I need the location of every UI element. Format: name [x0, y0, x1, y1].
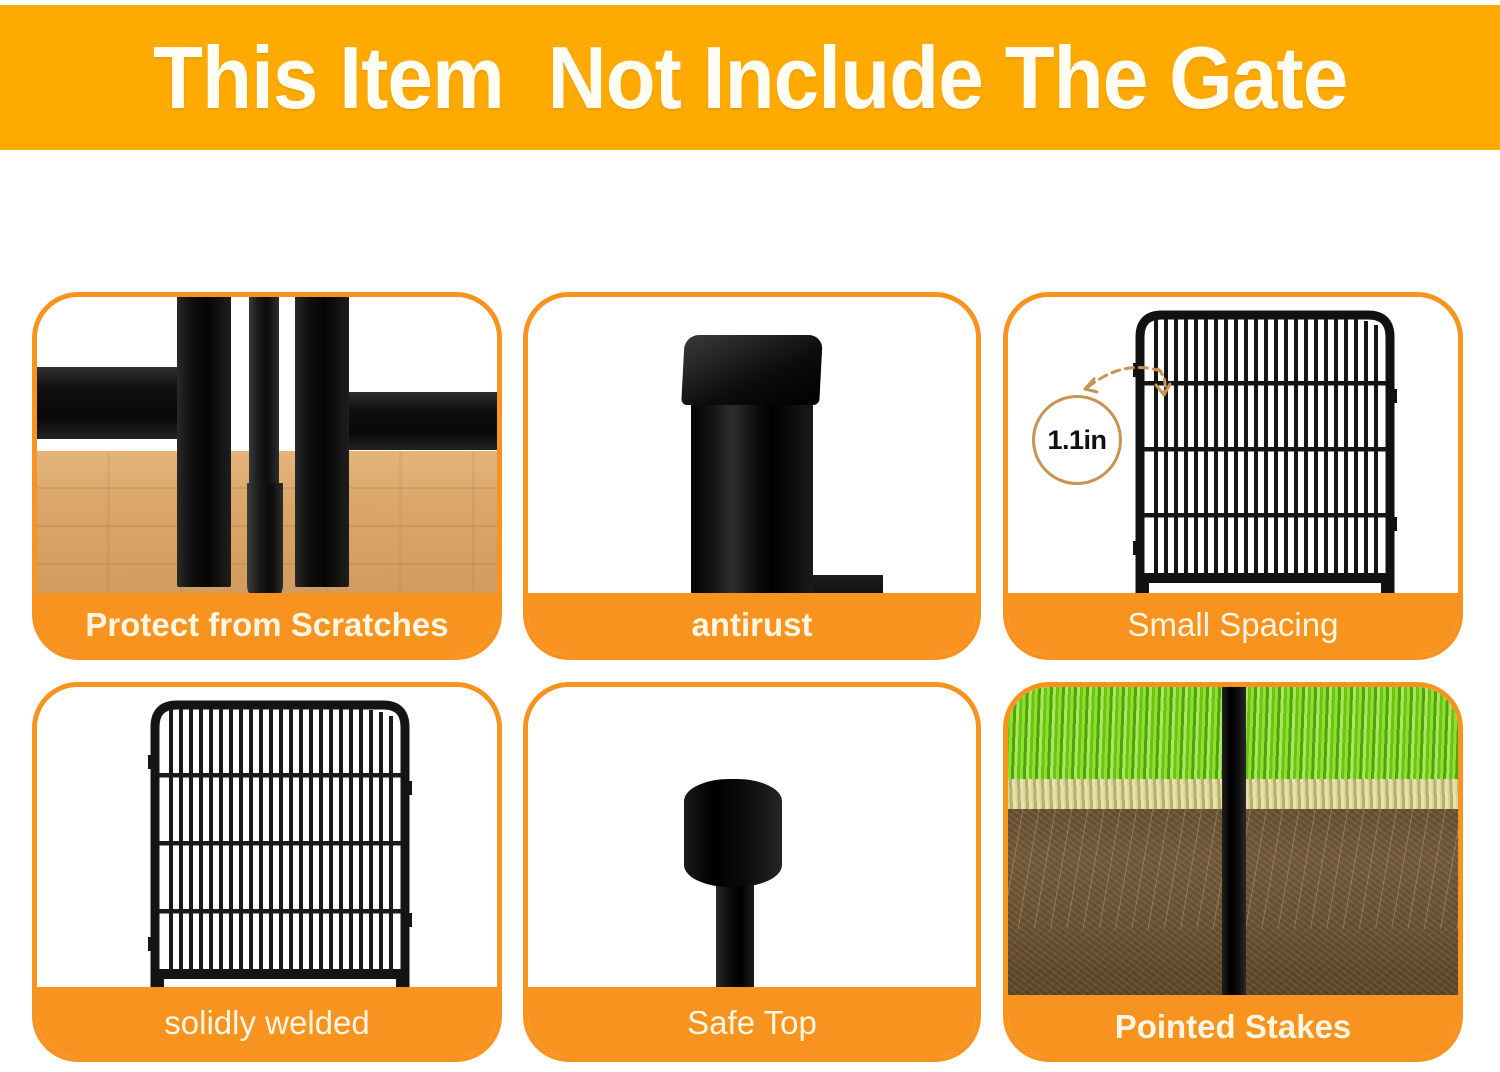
fence-panel-drawing [145, 693, 435, 987]
fence-rail-left [37, 367, 191, 439]
panel-caption-band: Protect from Scratches [37, 593, 497, 655]
post-body [691, 385, 813, 593]
square-post-illustration [528, 297, 976, 593]
spacing-measurement-value: 1.1in [1047, 425, 1106, 456]
panel-image-fence-posts-on-wood-floor [37, 297, 497, 593]
feature-panel-grid: Protect from Scratches antirust [0, 150, 1500, 1072]
ground-stake-protective-cap [247, 483, 283, 593]
fence-post-left [177, 297, 231, 587]
panel-caption-label: solidly welded [164, 1006, 369, 1039]
fence-panel-illustration [37, 687, 497, 987]
panel-caption-label: Safe Top [687, 1006, 817, 1039]
fence-rail-right [337, 392, 497, 450]
feature-panel-safe-top: Safe Top [523, 682, 981, 1062]
fence-panel-drawing [1130, 305, 1420, 593]
feature-panel-solidly-welded: solidly welded [32, 682, 502, 1062]
panel-image-square-post-cap [528, 297, 976, 593]
panel-caption-label: Pointed Stakes [1115, 1010, 1352, 1043]
panel-caption-band: antirust [528, 593, 976, 655]
panel-image-fence-panel [37, 687, 497, 987]
panel-caption-label: Small Spacing [1128, 608, 1339, 641]
fence-panel-illustration: 1.1in [1008, 297, 1458, 593]
stake-round-safety-cap [684, 779, 782, 887]
pointed-stake-driven-into-ground [1222, 687, 1246, 995]
panel-caption-band: Pointed Stakes [1008, 995, 1458, 1057]
page-title: This Item Not Include The Gate [153, 34, 1347, 122]
panel-image-round-cap-rod [528, 687, 976, 987]
panel-caption-label: antirust [691, 608, 812, 641]
stake-rod-shaft [716, 883, 754, 987]
feature-panel-protect-from-scratches: Protect from Scratches [32, 292, 502, 660]
panel-caption-band: Small Spacing [1008, 593, 1458, 655]
panel-caption-label: Protect from Scratches [85, 608, 448, 641]
spacing-measurement-callout: 1.1in [1032, 395, 1122, 485]
panel-caption-band: solidly welded [37, 987, 497, 1057]
feature-panel-antirust: antirust [523, 292, 981, 660]
post-top-cap [681, 335, 823, 405]
panel-image-fence-panel-with-measurement: 1.1in [1008, 297, 1458, 593]
panel-caption-band: Safe Top [528, 987, 976, 1057]
fence-post-right [295, 297, 349, 587]
soil-cross-section-scene [1008, 687, 1458, 995]
feature-panel-pointed-stakes: Pointed Stakes [1003, 682, 1463, 1062]
header-banner: This Item Not Include The Gate [0, 5, 1500, 150]
feature-panel-small-spacing: 1.1in Small Spacing [1003, 292, 1463, 660]
panel-image-stake-in-soil-cross-section [1008, 687, 1458, 995]
